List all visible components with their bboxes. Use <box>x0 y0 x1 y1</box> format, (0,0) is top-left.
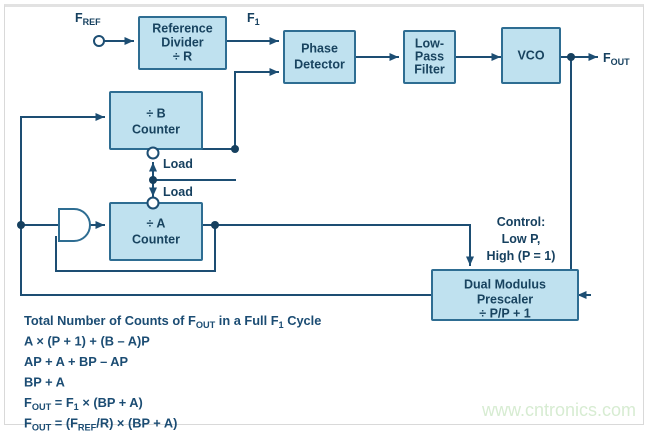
label-f1: F1 <box>247 11 260 27</box>
low-pass-filter-line1: Low- <box>415 36 444 50</box>
a-counter-line1: ÷ A <box>147 216 166 230</box>
pll-block-diagram: Reference Divider ÷ R Phase Detector Low… <box>0 0 650 431</box>
junction-acounter-out <box>211 221 219 229</box>
junction-left-bus <box>17 221 25 229</box>
label-load-upper: Load <box>163 157 193 171</box>
block-a-counter[interactable]: ÷ A Counter <box>110 203 202 260</box>
wire-acounter-output <box>202 225 470 265</box>
control-note-line1: Control: <box>497 215 546 229</box>
equation-line-1: Total Number of Counts of FOUT in a Full… <box>24 313 321 330</box>
wire-left-bus-to-bcounter <box>21 117 104 295</box>
and-gate[interactable] <box>59 209 90 241</box>
prescaler-line2: Prescaler <box>477 292 533 306</box>
vco-label: VCO <box>517 48 544 62</box>
junction-fout <box>567 53 575 61</box>
low-pass-filter-line3: Filter <box>414 62 445 76</box>
equation-line-4: BP + A <box>24 375 65 390</box>
block-reference-divider[interactable]: Reference Divider ÷ R <box>139 17 226 69</box>
low-pass-filter-line2: Pass <box>415 49 444 63</box>
block-phase-detector[interactable]: Phase Detector <box>284 31 355 83</box>
block-vco[interactable]: VCO <box>502 28 560 83</box>
b-counter-line2: Counter <box>132 122 180 136</box>
junction-bcounter-out <box>231 145 239 153</box>
prescaler-line3: ÷ P/P + 1 <box>479 306 531 320</box>
label-load-lower: Load <box>163 185 193 199</box>
watermark-text: www.cntronics.com <box>481 400 636 420</box>
a-counter-load-terminal[interactable] <box>148 198 159 209</box>
equation-line-5: FOUT = F1 × (BP + A) <box>24 395 143 412</box>
wire-fout-feedback-to-prescaler <box>571 57 590 295</box>
b-counter-line1: ÷ B <box>146 106 165 120</box>
block-low-pass-filter[interactable]: Low- Pass Filter <box>404 31 455 83</box>
a-counter-line2: Counter <box>132 232 180 246</box>
control-note-line2: Low P, <box>502 232 541 246</box>
wire-bcounter-to-phasedet <box>202 72 278 149</box>
b-counter-load-terminal[interactable] <box>148 148 159 159</box>
equation-line-3: AP + A + BP – AP <box>24 354 129 369</box>
label-f-ref: FREF <box>75 11 101 27</box>
equation-line-6: FOUT = (FREF/R) × (BP + A) <box>24 416 177 431</box>
control-note-line3: High (P = 1) <box>487 249 556 263</box>
prescaler-line1: Dual Modulus <box>464 277 546 291</box>
phase-detector-line2: Detector <box>294 57 345 71</box>
block-dual-modulus-prescaler[interactable]: Dual Modulus Prescaler ÷ P/P + 1 <box>432 270 578 320</box>
reference-divider-line2: Divider <box>161 35 204 49</box>
fref-input-terminal[interactable] <box>94 36 104 46</box>
diagram-canvas: Reference Divider ÷ R Phase Detector Low… <box>0 0 650 431</box>
label-f-out: FOUT <box>603 51 630 67</box>
junction-load-net <box>149 176 157 184</box>
phase-detector-line1: Phase <box>301 41 338 55</box>
equation-list: Total Number of Counts of FOUT in a Full… <box>24 313 321 431</box>
block-b-counter[interactable]: ÷ B Counter <box>110 92 202 149</box>
reference-divider-line1: Reference <box>152 21 212 35</box>
reference-divider-line3: ÷ R <box>173 49 192 63</box>
equation-line-2: A × (P + 1) + (B – A)P <box>24 334 150 349</box>
